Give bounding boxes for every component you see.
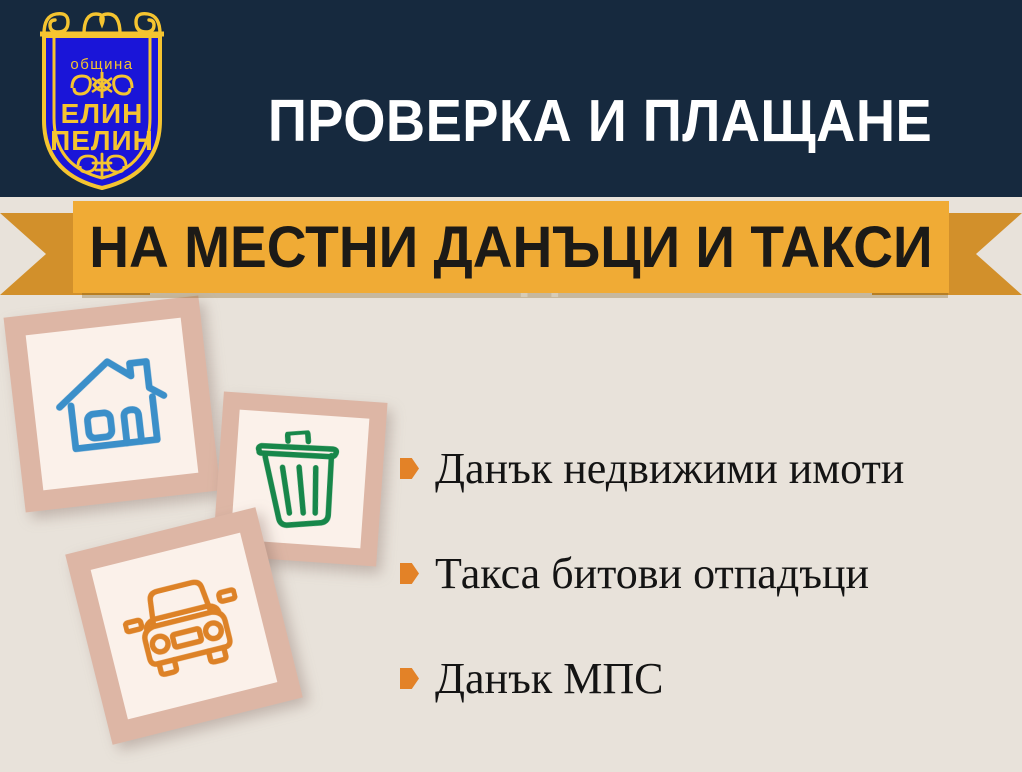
svg-text:община: община	[70, 56, 133, 73]
list-item-label: Такса битови отпадъци	[435, 552, 869, 596]
ribbon-band: НА МЕСТНИ ДАНЪЦИ И ТАКСИ	[73, 201, 949, 293]
stamp-card-property	[4, 296, 221, 513]
page-title: ПРОВЕРКА И ПЛАЩАНЕ НА ЗАДЪЛЖЕНИЯ	[223, 14, 977, 374]
list-item[interactable]: Данък МПС	[400, 626, 1010, 731]
list-item[interactable]: Данък недвижими имоти	[400, 416, 1010, 521]
coat-of-arms-icon: община ЕЛИН ПЕЛИН	[22, 8, 182, 193]
page-title-line-1: ПРОВЕРКА И ПЛАЩАНЕ	[223, 86, 977, 158]
arrow-bullet-icon	[400, 563, 419, 584]
subtitle-ribbon: НА МЕСТНИ ДАНЪЦИ И ТАКСИ	[0, 196, 1022, 304]
house-icon	[48, 345, 175, 462]
list-item[interactable]: Такса битови отпадъци	[400, 521, 1010, 626]
municipality-logo: община ЕЛИН ПЕЛИН	[22, 8, 182, 193]
poster-canvas: община ЕЛИН ПЕЛИН ПРОВЕРКА И ПЛАЩАНЕ НА …	[0, 0, 1022, 772]
stamp-paper-property	[26, 318, 199, 491]
svg-text:ПЕЛИН: ПЕЛИН	[50, 125, 154, 156]
trash-bin-icon	[251, 427, 350, 530]
header-bar: община ЕЛИН ПЕЛИН ПРОВЕРКА И ПЛАЩАНЕ НА …	[0, 0, 1022, 197]
list-item-label: Данък недвижими имоти	[435, 447, 904, 491]
car-icon	[115, 564, 253, 688]
tax-type-list: Данък недвижими имоти Такса битови отпад…	[400, 416, 1010, 731]
arrow-bullet-icon	[400, 668, 419, 689]
arrow-bullet-icon	[400, 458, 419, 479]
list-item-label: Данък МПС	[435, 657, 663, 701]
ribbon-label: НА МЕСТНИ ДАНЪЦИ И ТАКСИ	[89, 214, 932, 281]
